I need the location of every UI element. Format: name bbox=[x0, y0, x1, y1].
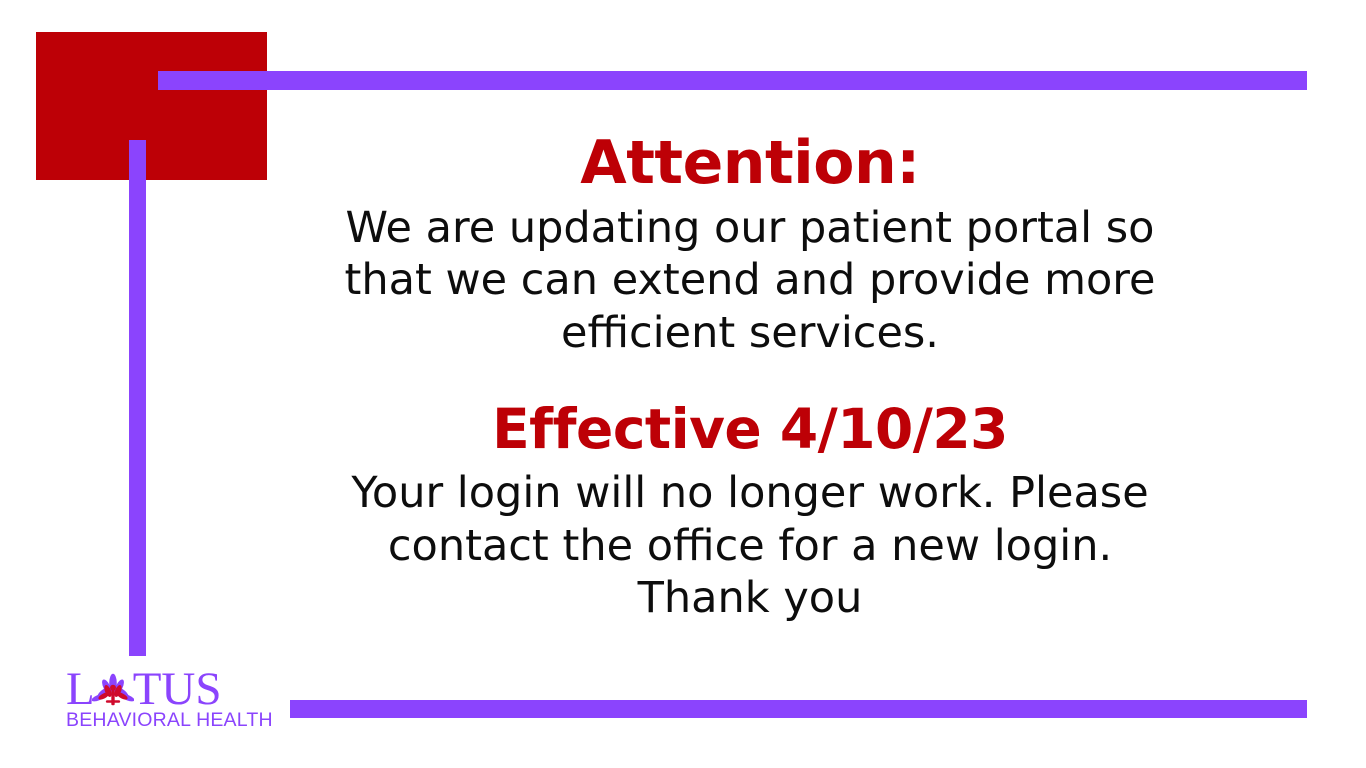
body-line-5: contact the office for a new login. bbox=[290, 520, 1210, 572]
body-line-3: efficient services. bbox=[290, 307, 1210, 359]
body-line-6: Thank you bbox=[290, 572, 1210, 624]
body-line-1: We are updating our patient portal so bbox=[290, 202, 1210, 254]
announcement-message: Attention: We are updating our patient p… bbox=[290, 132, 1210, 625]
purple-top-bar bbox=[158, 71, 1307, 90]
subhead-effective-date: Effective 4/10/23 bbox=[290, 399, 1210, 460]
purple-bottom-bar bbox=[290, 700, 1307, 718]
logo-word-left: L bbox=[66, 666, 95, 712]
purple-vertical-bar bbox=[129, 140, 146, 656]
body-line-4: Your login will no longer work. Please bbox=[290, 467, 1210, 519]
logo-word-right: TUS bbox=[133, 666, 222, 712]
headline-attention: Attention: bbox=[290, 132, 1210, 196]
body-line-2: that we can extend and provide more bbox=[290, 254, 1210, 306]
brand-logo: L bbox=[66, 666, 266, 730]
red-block-decoration bbox=[36, 32, 267, 180]
logo-wordmark: L bbox=[66, 666, 266, 712]
lotus-flower-icon bbox=[92, 670, 134, 712]
logo-tagline: BEHAVIORAL HEALTH bbox=[66, 710, 266, 730]
message-spacer bbox=[290, 359, 1210, 399]
announcement-slide: Attention: We are updating our patient p… bbox=[0, 0, 1366, 768]
